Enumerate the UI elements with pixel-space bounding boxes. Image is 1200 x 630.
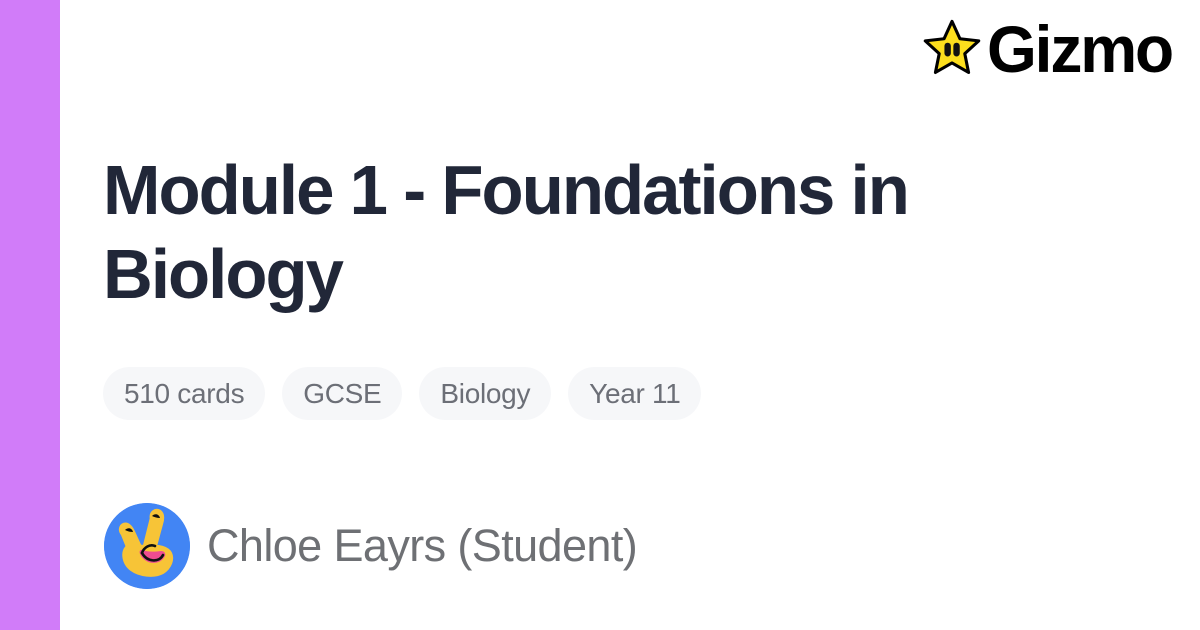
share-card: Gizmo Module 1 - Foundations in Biology …: [0, 0, 1200, 630]
tag-pill-year-group[interactable]: Year 11: [568, 367, 701, 420]
tag-pill-subject[interactable]: Biology: [419, 367, 551, 420]
rock-on-hand-avatar-icon: [104, 503, 190, 589]
author-name: Chloe Eayrs (Student): [207, 521, 637, 571]
deck-title: Module 1 - Foundations in Biology: [103, 148, 1049, 316]
author-row[interactable]: Chloe Eayrs (Student): [104, 503, 637, 589]
tag-pill-exam-board[interactable]: GCSE: [282, 367, 402, 420]
avatar: [104, 503, 190, 589]
deck-tag-list: 510 cards GCSE Biology Year 11: [103, 367, 701, 420]
left-accent-stripe: [0, 0, 60, 630]
tag-pill-card-count[interactable]: 510 cards: [103, 367, 265, 420]
card-content: Module 1 - Foundations in Biology 510 ca…: [103, 0, 1103, 630]
